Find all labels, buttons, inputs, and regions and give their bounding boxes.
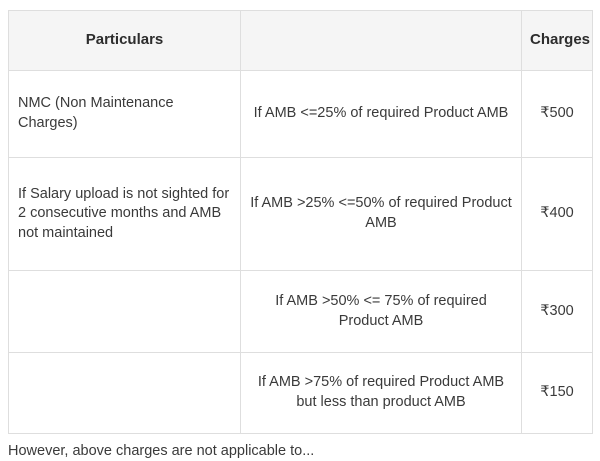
- table-body: NMC (Non Maintenance Charges) If AMB <=2…: [9, 71, 593, 434]
- cell-charges: ₹400: [522, 158, 593, 271]
- cell-charges: ₹500: [522, 71, 593, 158]
- table-row: NMC (Non Maintenance Charges) If AMB <=2…: [9, 71, 593, 158]
- table-row: If Salary upload is not sighted for 2 co…: [9, 158, 593, 271]
- column-header-charges: Charges: [522, 11, 593, 71]
- cell-particulars: If Salary upload is not sighted for 2 co…: [9, 158, 241, 271]
- cell-particulars: NMC (Non Maintenance Charges): [9, 71, 241, 158]
- cell-condition: If AMB >25% <=50% of required Product AM…: [241, 158, 522, 271]
- cell-charges: ₹150: [522, 353, 593, 434]
- table-header: Particulars Charges: [9, 11, 593, 71]
- cell-condition: If AMB <=25% of required Product AMB: [241, 71, 522, 158]
- cell-condition: If AMB >50% <= 75% of required Product A…: [241, 271, 522, 353]
- charges-table-container: Particulars Charges NMC (Non Maintenance…: [8, 10, 592, 434]
- page-root: Particulars Charges NMC (Non Maintenance…: [0, 0, 600, 450]
- column-header-condition: [241, 11, 522, 71]
- table-row: If AMB >50% <= 75% of required Product A…: [9, 271, 593, 353]
- bank-charges-table: Particulars Charges NMC (Non Maintenance…: [8, 10, 593, 434]
- cell-charges: ₹300: [522, 271, 593, 353]
- column-header-particulars: Particulars: [9, 11, 241, 71]
- table-row: If AMB >75% of required Product AMB but …: [9, 353, 593, 434]
- cell-particulars: [9, 353, 241, 434]
- cell-particulars: [9, 271, 241, 353]
- table-footnote: However, above charges are not applicabl…: [8, 441, 592, 461]
- table-header-row: Particulars Charges: [9, 11, 593, 71]
- cell-condition: If AMB >75% of required Product AMB but …: [241, 353, 522, 434]
